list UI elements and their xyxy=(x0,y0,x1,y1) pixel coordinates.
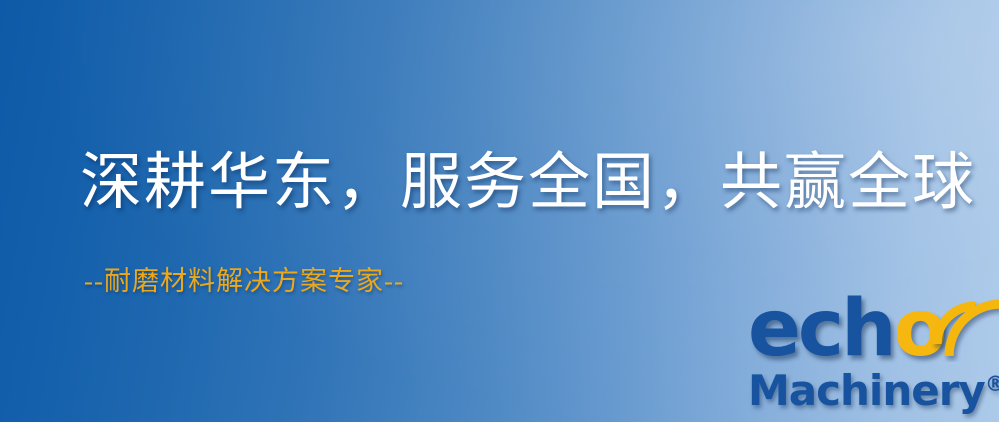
logo-tagline-text: Machinery xyxy=(748,366,985,415)
logo-echo-prefix: ech xyxy=(748,284,894,374)
banner-headline: 深耕华东，服务全国，共赢全球 xyxy=(80,152,976,214)
logo-echo-text: echo xyxy=(748,290,944,368)
logo-tagline: Machinery® xyxy=(748,370,999,412)
banner-subtitle: --耐磨材料解决方案专家-- xyxy=(84,268,404,295)
echo-machinery-logo[interactable]: echo xyxy=(746,296,999,422)
registered-trademark-symbol: ® xyxy=(985,372,999,396)
signal-arcs-icon xyxy=(919,288,999,362)
hero-banner: 深耕华东，服务全国，共赢全球 --耐磨材料解决方案专家-- echo xyxy=(0,0,999,422)
logo-wordmark: echo xyxy=(746,296,999,374)
